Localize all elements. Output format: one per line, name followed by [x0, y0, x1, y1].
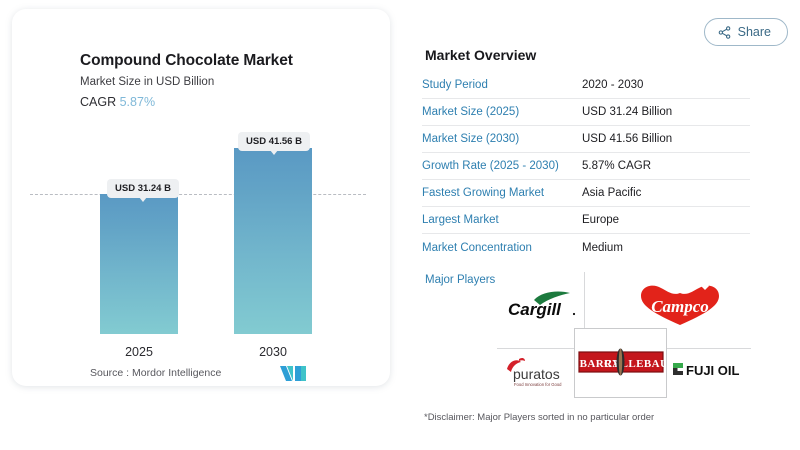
reference-line	[30, 194, 366, 195]
row-key: Growth Rate (2025 - 2030)	[422, 160, 582, 172]
svg-text:Cargill: Cargill	[508, 300, 562, 319]
svg-text:FUJI OIL: FUJI OIL	[686, 363, 740, 378]
svg-text:puratos: puratos	[513, 366, 560, 382]
fuji-oil-logo: FUJI OIL	[669, 352, 749, 386]
table-row: Fastest Growing Market Asia Pacific	[422, 180, 750, 207]
chart-source: Source : Mordor Intelligence	[90, 367, 221, 379]
barry-callebaut-logo: BARRY CALLEBAUT	[577, 342, 665, 382]
row-key: Market Size (2030)	[422, 133, 582, 145]
table-row: Largest Market Europe	[422, 207, 750, 234]
campco-logo: Campco	[637, 274, 723, 334]
table-row: Market Concentration Medium	[422, 234, 750, 261]
cargill-logo: Cargill	[503, 278, 583, 334]
row-key: Market Concentration	[422, 242, 582, 254]
row-value: 2020 - 2030	[582, 79, 643, 91]
x-tick-2030: 2030	[234, 345, 312, 359]
puratos-logo: puratos Food Innovation for Good	[499, 350, 573, 392]
bar-2025	[100, 194, 178, 334]
row-value: USD 41.56 Billion	[582, 133, 672, 145]
bar-value-label-2030: USD 41.56 B	[238, 132, 310, 151]
chart-card: Compound Chocolate Market Market Size in…	[12, 9, 390, 386]
row-value: USD 31.24 Billion	[582, 106, 672, 118]
mordor-intelligence-logo	[280, 365, 306, 382]
row-value: Europe	[582, 214, 619, 226]
table-row: Growth Rate (2025 - 2030) 5.87% CAGR	[422, 153, 750, 180]
row-key: Fastest Growing Market	[422, 187, 582, 199]
disclaimer-text: *Disclaimer: Major Players sorted in no …	[424, 412, 654, 423]
overview-title: Market Overview	[425, 47, 536, 63]
share-label: Share	[738, 25, 771, 39]
row-value: Asia Pacific	[582, 187, 641, 199]
share-icon	[718, 26, 731, 39]
x-tick-2025: 2025	[100, 345, 178, 359]
row-value: 5.87% CAGR	[582, 160, 651, 172]
row-key: Study Period	[422, 79, 582, 91]
major-players-logo-grid: Cargill Campco puratos Food Innovation f…	[497, 270, 753, 395]
share-button[interactable]: Share	[704, 18, 788, 46]
table-row: Market Size (2025) USD 31.24 Billion	[422, 99, 750, 126]
row-key: Largest Market	[422, 214, 582, 226]
major-players-label: Major Players	[425, 274, 495, 286]
svg-text:Food Innovation for Good: Food Innovation for Good	[514, 382, 562, 387]
row-value: Medium	[582, 242, 623, 254]
market-overview-table: Study Period 2020 - 2030 Market Size (20…	[422, 72, 750, 261]
svg-text:CALLEBAUT: CALLEBAUT	[604, 358, 664, 370]
bar-2030	[234, 148, 312, 334]
screenshot-root: Compound Chocolate Market Market Size in…	[0, 0, 800, 450]
table-row: Study Period 2020 - 2030	[422, 72, 750, 99]
bar-value-label-2025: USD 31.24 B	[107, 179, 179, 198]
svg-text:Campco: Campco	[651, 297, 709, 316]
bar-chart-plot: USD 31.24 B USD 41.56 B 2025 2030	[12, 9, 390, 386]
table-row: Market Size (2030) USD 41.56 Billion	[422, 126, 750, 153]
row-key: Market Size (2025)	[422, 106, 582, 118]
